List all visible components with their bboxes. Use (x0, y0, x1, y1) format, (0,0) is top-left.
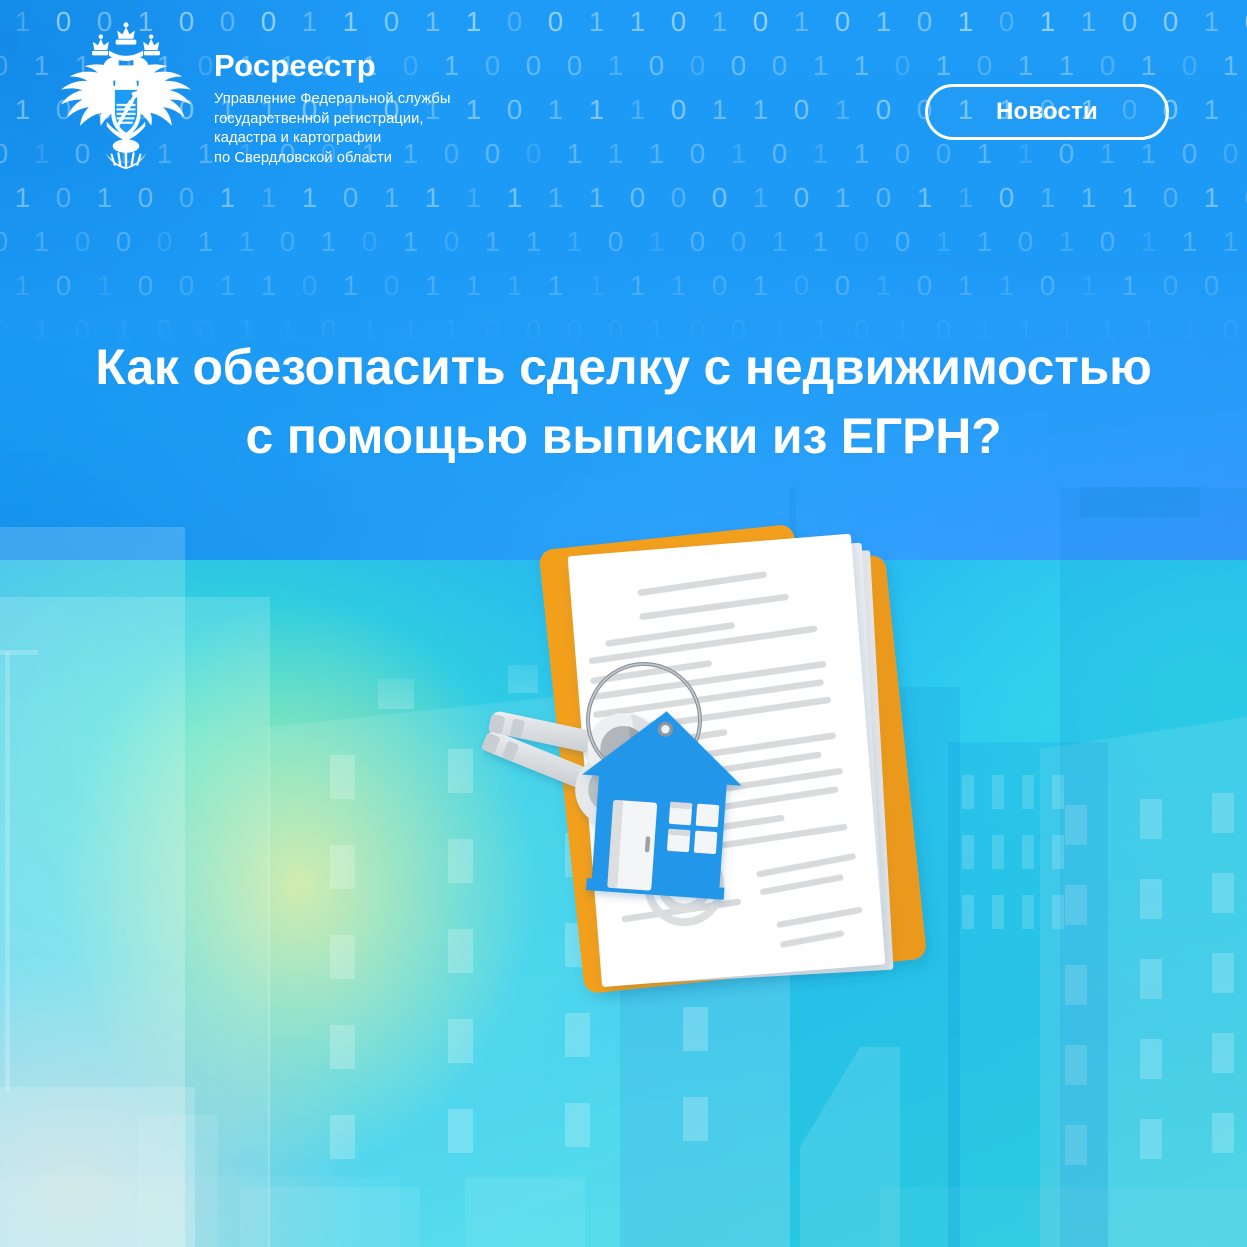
headline-line-1: Как обезопасить сделку с недвижимостью (95, 339, 1151, 395)
brand-subtitle-line: Управление Федеральной службы (214, 90, 450, 110)
page-headline: Как обезопасить сделку с недвижимостью с… (0, 333, 1247, 471)
brand-title: Росреестр (214, 50, 450, 81)
brand-text-block: Росреестр Управление Федеральной службы … (214, 26, 450, 168)
document-and-keys-illustration (430, 515, 1010, 1075)
russian-eagle-emblem-icon (52, 20, 200, 170)
brand-lockup: Росреестр Управление Федеральной службы … (52, 26, 450, 170)
poster-canvas: 1001000110110011010101010110010011010111… (0, 0, 1247, 1247)
brand-subtitle-line: государственной регистрации, (214, 110, 450, 130)
news-button[interactable]: Новости (925, 84, 1169, 140)
brand-subtitle-line: по Свердловской области (214, 149, 450, 169)
brand-subtitle: Управление Федеральной службы государств… (214, 90, 450, 168)
brand-subtitle-line: кадастра и картографии (214, 129, 450, 149)
headline-line-2: с помощью выписки из ЕГРН? (40, 402, 1207, 471)
